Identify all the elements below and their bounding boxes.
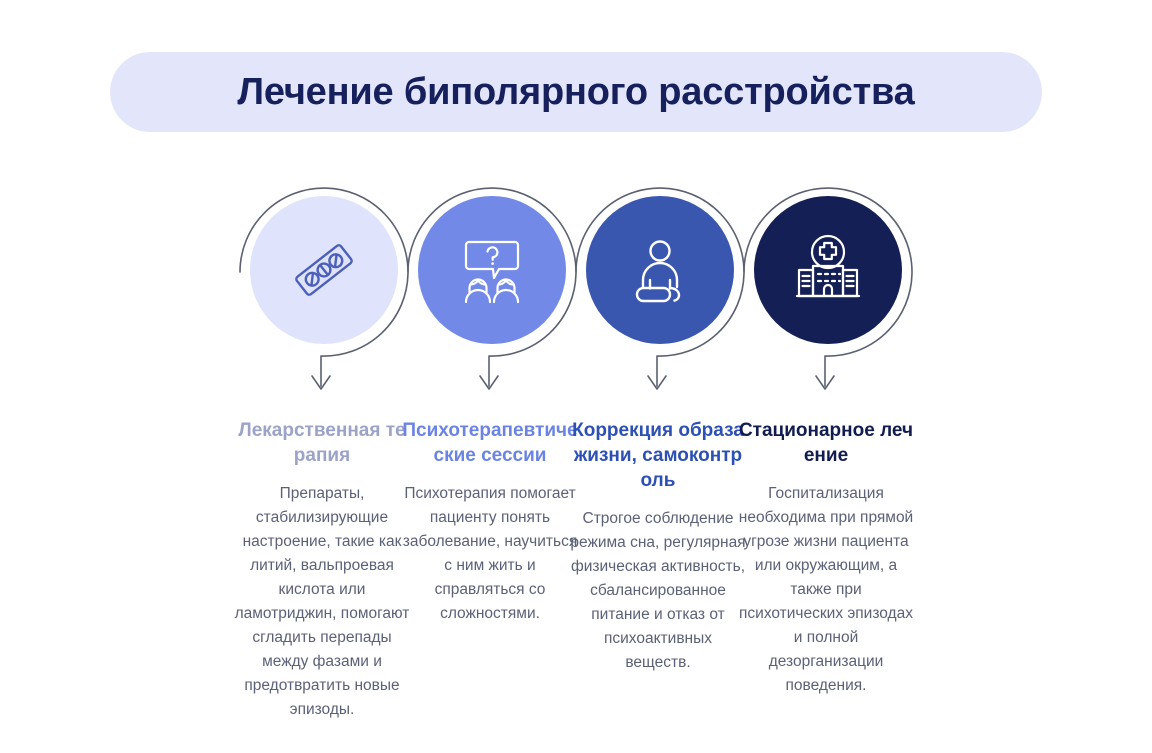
infographic-page: Лечение биполярного расстройства bbox=[0, 0, 1152, 753]
pill-blister-icon bbox=[284, 230, 364, 310]
step-circle-hospitalization[interactable] bbox=[754, 196, 902, 344]
step-body: Психотерапия помогает пациенту понять за… bbox=[402, 482, 578, 626]
step-circle-psychotherapy[interactable] bbox=[418, 196, 566, 344]
step-text-hospitalization: Стационарное лечение Госпитализация необ… bbox=[738, 418, 914, 698]
step-text-medication: Лекарственная терапия Препараты, стабили… bbox=[234, 418, 410, 722]
step-body: Препараты, стабилизирующие настроение, т… bbox=[234, 482, 410, 722]
therapy-session-icon bbox=[452, 230, 532, 310]
step-heading: Стационарное лечение bbox=[738, 418, 914, 468]
step-heading: Коррекция образа жизни, самоконтроль bbox=[570, 418, 746, 493]
step-disc bbox=[754, 196, 902, 344]
connector-arrows bbox=[0, 0, 1152, 420]
step-body: Строгое соблюдение режима сна, регулярна… bbox=[570, 507, 746, 675]
step-disc bbox=[418, 196, 566, 344]
step-heading: Психотерапевтические сессии bbox=[402, 418, 578, 468]
step-circle-medication[interactable] bbox=[250, 196, 398, 344]
steps-text-row: Лекарственная терапия Препараты, стабили… bbox=[0, 418, 1152, 748]
step-text-lifestyle: Коррекция образа жизни, самоконтроль Стр… bbox=[570, 418, 746, 675]
step-disc bbox=[586, 196, 734, 344]
step-disc bbox=[250, 196, 398, 344]
step-text-psychotherapy: Психотерапевтические сессии Психотерапия… bbox=[402, 418, 578, 626]
hospital-icon bbox=[788, 230, 868, 310]
step-body: Госпитализация необходима при прямой угр… bbox=[738, 482, 914, 698]
meditation-icon bbox=[620, 230, 700, 310]
step-heading: Лекарственная терапия bbox=[234, 418, 410, 468]
step-circle-lifestyle[interactable] bbox=[586, 196, 734, 344]
steps-diagram bbox=[0, 0, 1152, 420]
